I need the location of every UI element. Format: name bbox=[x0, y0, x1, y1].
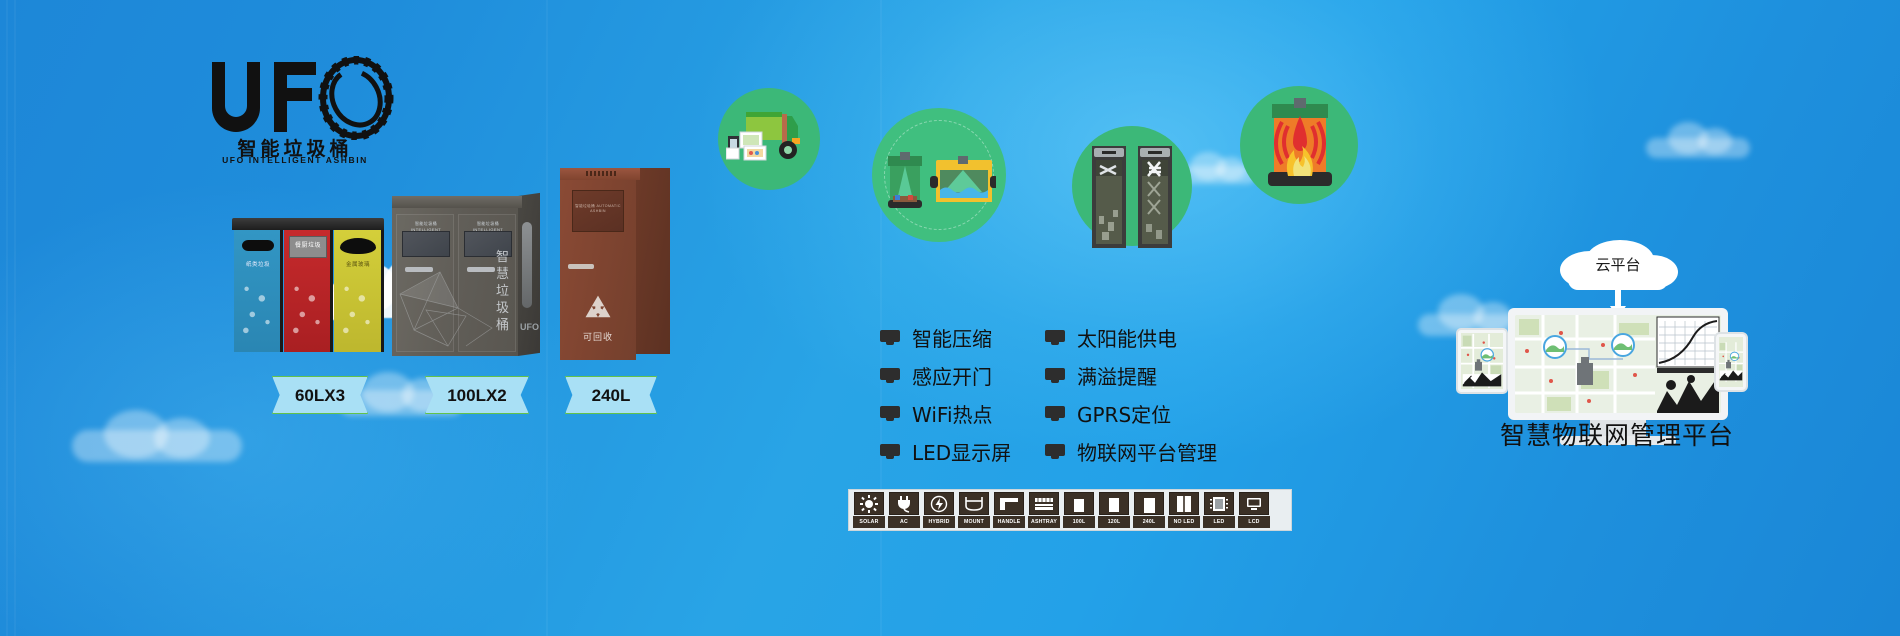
bin-graphic bbox=[289, 276, 327, 340]
bin-vent bbox=[586, 171, 616, 176]
spec-caption: SOLAR bbox=[853, 516, 885, 528]
bin-graphic bbox=[339, 276, 377, 340]
bin-side-window bbox=[522, 222, 532, 308]
background-stripe bbox=[14, 0, 16, 636]
bin-panel-label: 智能垃圾桶 AUTOMATIC ASHBIN bbox=[573, 204, 623, 213]
monitor-dashboard-screen bbox=[1515, 315, 1721, 413]
feature-item: 满溢提醒 bbox=[1045, 360, 1300, 390]
ufo-logo-mark bbox=[196, 56, 406, 140]
feature-list: 智能压缩 太阳能供电 感应开门 满溢提醒 WiFi热点 GPRS定位 LED显示… bbox=[880, 322, 1300, 466]
feature-item: LED显示屏 bbox=[880, 436, 1045, 466]
spec-caption: 100L bbox=[1063, 516, 1095, 528]
hybrid-power-icon bbox=[924, 492, 954, 515]
dashboard-map-chart-icon bbox=[1515, 315, 1721, 413]
sun-icon bbox=[854, 492, 884, 515]
spec-caption: LED bbox=[1203, 516, 1235, 528]
feature-item: 智能压缩 bbox=[880, 322, 1045, 352]
monitor-icon bbox=[1045, 406, 1065, 421]
feature-label: 感应开门 bbox=[912, 361, 992, 390]
smartphone-device bbox=[1714, 332, 1748, 392]
feature-item: WiFi热点 bbox=[880, 398, 1045, 428]
bin-top-cap bbox=[232, 218, 384, 230]
bin-vertical-text: 智慧垃圾桶 bbox=[496, 248, 514, 333]
spec-cell-lcd: LCD bbox=[1238, 492, 1270, 528]
bin-graphic bbox=[239, 276, 277, 340]
monitor-icon bbox=[880, 368, 900, 383]
lcd-icon bbox=[1239, 492, 1269, 515]
bin-divider bbox=[381, 230, 384, 352]
spec-cell-mount: MOUNT bbox=[958, 492, 990, 528]
bin-label: 餐厨垃圾 bbox=[284, 240, 332, 249]
spec-caption: 240L bbox=[1133, 516, 1165, 528]
bin-compartment-kitchen: 餐厨垃圾 bbox=[284, 230, 332, 352]
tablet-map-screen bbox=[1461, 333, 1503, 389]
spec-cell-ashtray: ASHTRAY bbox=[1028, 492, 1060, 528]
tricolor-bin: 纸类垃圾 餐厨垃圾 金属玻璃 bbox=[232, 218, 384, 352]
cloud-platform-label: 云平台 bbox=[1548, 254, 1688, 275]
capacity-tag-100lx2: 100LX2 bbox=[425, 376, 529, 414]
feature-label: WiFi热点 bbox=[912, 399, 993, 428]
garbage-truck-icon bbox=[726, 108, 812, 170]
recycle-icon bbox=[580, 292, 616, 328]
background-stripe bbox=[546, 0, 548, 636]
feature-item: 物联网平台管理 bbox=[1045, 436, 1300, 466]
spec-cell-handle: HANDLE bbox=[993, 492, 1025, 528]
phone-map-screen bbox=[1719, 337, 1743, 387]
spec-caption: 120L bbox=[1098, 516, 1130, 528]
feature-item: 太阳能供电 bbox=[1045, 322, 1300, 352]
bin-slot bbox=[340, 238, 376, 254]
map-thumbnail-icon bbox=[1461, 333, 1503, 389]
ashtray-icon bbox=[1029, 492, 1059, 515]
bin-120l-icon bbox=[1099, 492, 1129, 515]
monitor-icon bbox=[880, 406, 900, 421]
compaction-bin-icon bbox=[884, 152, 996, 214]
background-stripe bbox=[6, 0, 8, 636]
spec-cell-240l: 240L bbox=[1133, 492, 1165, 528]
spec-cell-no-led: NO LED bbox=[1168, 492, 1200, 528]
monitor-icon bbox=[1045, 444, 1065, 459]
bin-compartment-paper: 纸类垃圾 bbox=[234, 230, 282, 352]
spec-cell-120l: 120L bbox=[1098, 492, 1130, 528]
spec-cell-hybrid: HYBRID bbox=[923, 492, 955, 528]
bin-divider bbox=[330, 230, 333, 352]
feature-label: 物联网平台管理 bbox=[1077, 437, 1217, 466]
bin-slot bbox=[242, 240, 274, 251]
cloud-decor bbox=[1640, 120, 1760, 160]
spec-icon-strip: SOLAR AC HYBRID MOUNT bbox=[848, 489, 1292, 531]
bin-divider bbox=[280, 230, 283, 352]
spec-cell-solar: SOLAR bbox=[853, 492, 885, 528]
gray-double-bin: 智能垃圾桶 INTELLIGENT ASHBIN 智能垃圾桶 INTELLIGE… bbox=[392, 196, 540, 356]
power-plug-icon bbox=[889, 492, 919, 515]
cloud-decor bbox=[56, 404, 266, 466]
fire-alarm-bin-icon bbox=[1258, 98, 1342, 194]
platform-title: 智慧物联网管理平台 bbox=[1452, 416, 1782, 452]
no-led-icon bbox=[1169, 492, 1199, 515]
bin-top-cap bbox=[392, 196, 522, 208]
bin-recycle-label: 可回收 bbox=[568, 330, 628, 343]
feature-label: 满溢提醒 bbox=[1077, 361, 1157, 390]
background-stripe bbox=[880, 0, 882, 636]
feature-item: GPRS定位 bbox=[1045, 398, 1300, 428]
bin-handle bbox=[568, 264, 594, 269]
bin-240l-icon bbox=[1134, 492, 1164, 515]
spec-cell-ac: AC bbox=[888, 492, 920, 528]
tablet-device bbox=[1456, 328, 1508, 394]
monitor-icon bbox=[1045, 330, 1065, 345]
map-thumbnail-icon bbox=[1719, 337, 1743, 387]
led-icon bbox=[1204, 492, 1234, 515]
capacity-tag-60lx3: 60LX3 bbox=[272, 376, 368, 414]
bin-label: 金属玻璃 bbox=[334, 260, 382, 268]
feature-label: GPRS定位 bbox=[1077, 399, 1171, 428]
bin-compartment-metal-glass: 金属玻璃 bbox=[334, 230, 382, 352]
handle-icon bbox=[994, 492, 1024, 515]
cloud-platform-bubble: 云平台 bbox=[1548, 240, 1688, 292]
logo-english-name: UFO INTELLIGENT ASHBIN bbox=[200, 155, 390, 165]
desktop-monitor bbox=[1508, 308, 1728, 420]
bin-brand-mark: UFO bbox=[520, 322, 539, 332]
bin-100l-icon bbox=[1064, 492, 1094, 515]
brown-bin: 智能垃圾桶 AUTOMATIC ASHBIN 可回收 bbox=[560, 168, 670, 360]
monitor-icon bbox=[880, 444, 900, 459]
brand-logo: 智能垃圾桶 UFO INTELLIGENT ASHBIN bbox=[196, 56, 406, 166]
bin-mesh-graphic bbox=[396, 254, 506, 350]
feature-label: LED显示屏 bbox=[912, 437, 1011, 466]
feature-item: 感应开门 bbox=[880, 360, 1045, 390]
spec-caption: ASHTRAY bbox=[1028, 516, 1060, 528]
spec-cell-100l: 100L bbox=[1063, 492, 1095, 528]
spec-caption: LCD bbox=[1238, 516, 1270, 528]
spec-caption: HANDLE bbox=[993, 516, 1025, 528]
wall-mount-icon bbox=[959, 492, 989, 515]
spec-cell-led: LED bbox=[1203, 492, 1235, 528]
capacity-tag-240l: 240L bbox=[565, 376, 657, 414]
monitor-icon bbox=[1045, 368, 1065, 383]
spec-caption: AC bbox=[888, 516, 920, 528]
dual-smart-bin-icon bbox=[1090, 142, 1176, 252]
bin-sign-panel: 智能垃圾桶 AUTOMATIC ASHBIN bbox=[572, 190, 624, 232]
bin-side-panel bbox=[636, 168, 670, 354]
monitor-icon bbox=[880, 330, 900, 345]
spec-caption: MOUNT bbox=[958, 516, 990, 528]
spec-caption: HYBRID bbox=[923, 516, 955, 528]
feature-label: 太阳能供电 bbox=[1077, 323, 1177, 352]
marketing-banner: 智能垃圾桶 UFO INTELLIGENT ASHBIN 纸类垃圾 餐厨垃圾 金… bbox=[0, 0, 1900, 636]
feature-label: 智能压缩 bbox=[912, 323, 992, 352]
spec-caption: NO LED bbox=[1168, 516, 1200, 528]
bin-label: 纸类垃圾 bbox=[234, 260, 282, 268]
